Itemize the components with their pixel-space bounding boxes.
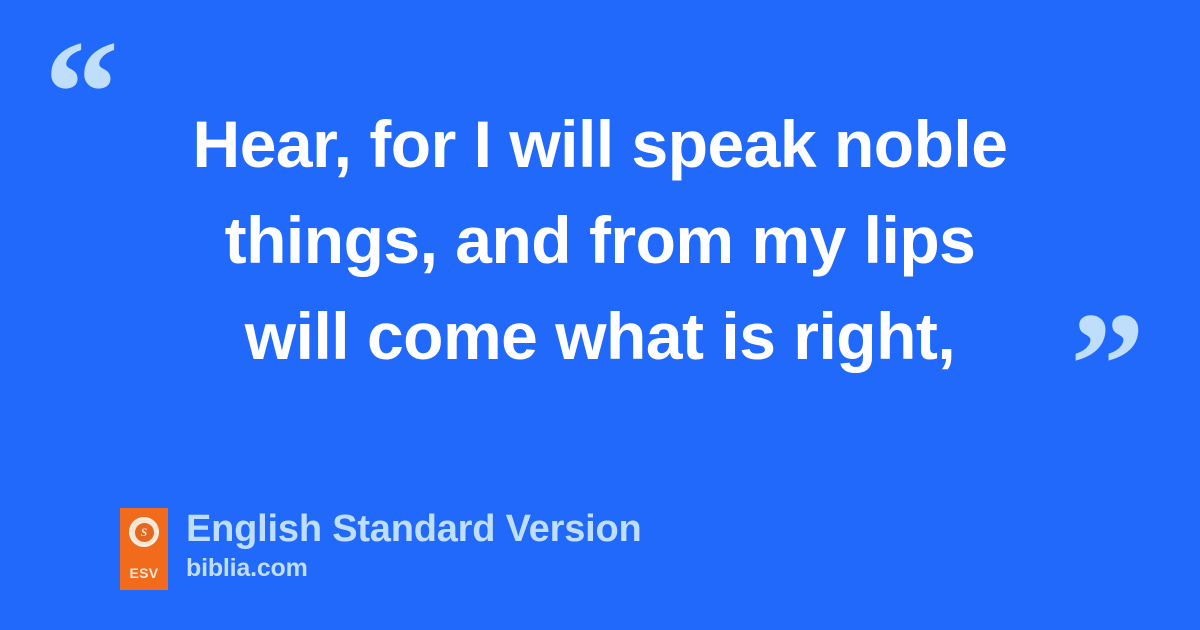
quote-line: things, and from my lips	[100, 192, 1100, 288]
site-name: biblia.com	[186, 554, 642, 582]
bible-version-name: English Standard Version	[186, 508, 642, 550]
esv-seal-icon: S	[129, 517, 159, 547]
esv-abbreviation-label: ESV	[130, 566, 159, 580]
closing-quote-icon: ”	[1070, 290, 1145, 440]
attribution: S ESV English Standard Version biblia.co…	[120, 508, 642, 590]
quote-line: will come what is right,	[100, 288, 1100, 384]
quote-text-block: Hear, for I will speak noble things, and…	[100, 96, 1100, 384]
esv-logo-badge: S ESV	[120, 508, 168, 590]
quote-card: “ Hear, for I will speak noble things, a…	[0, 0, 1200, 630]
attribution-text: English Standard Version biblia.com	[186, 508, 642, 582]
quote-line: Hear, for I will speak noble	[100, 96, 1100, 192]
esv-seal-monogram: S	[135, 523, 154, 542]
